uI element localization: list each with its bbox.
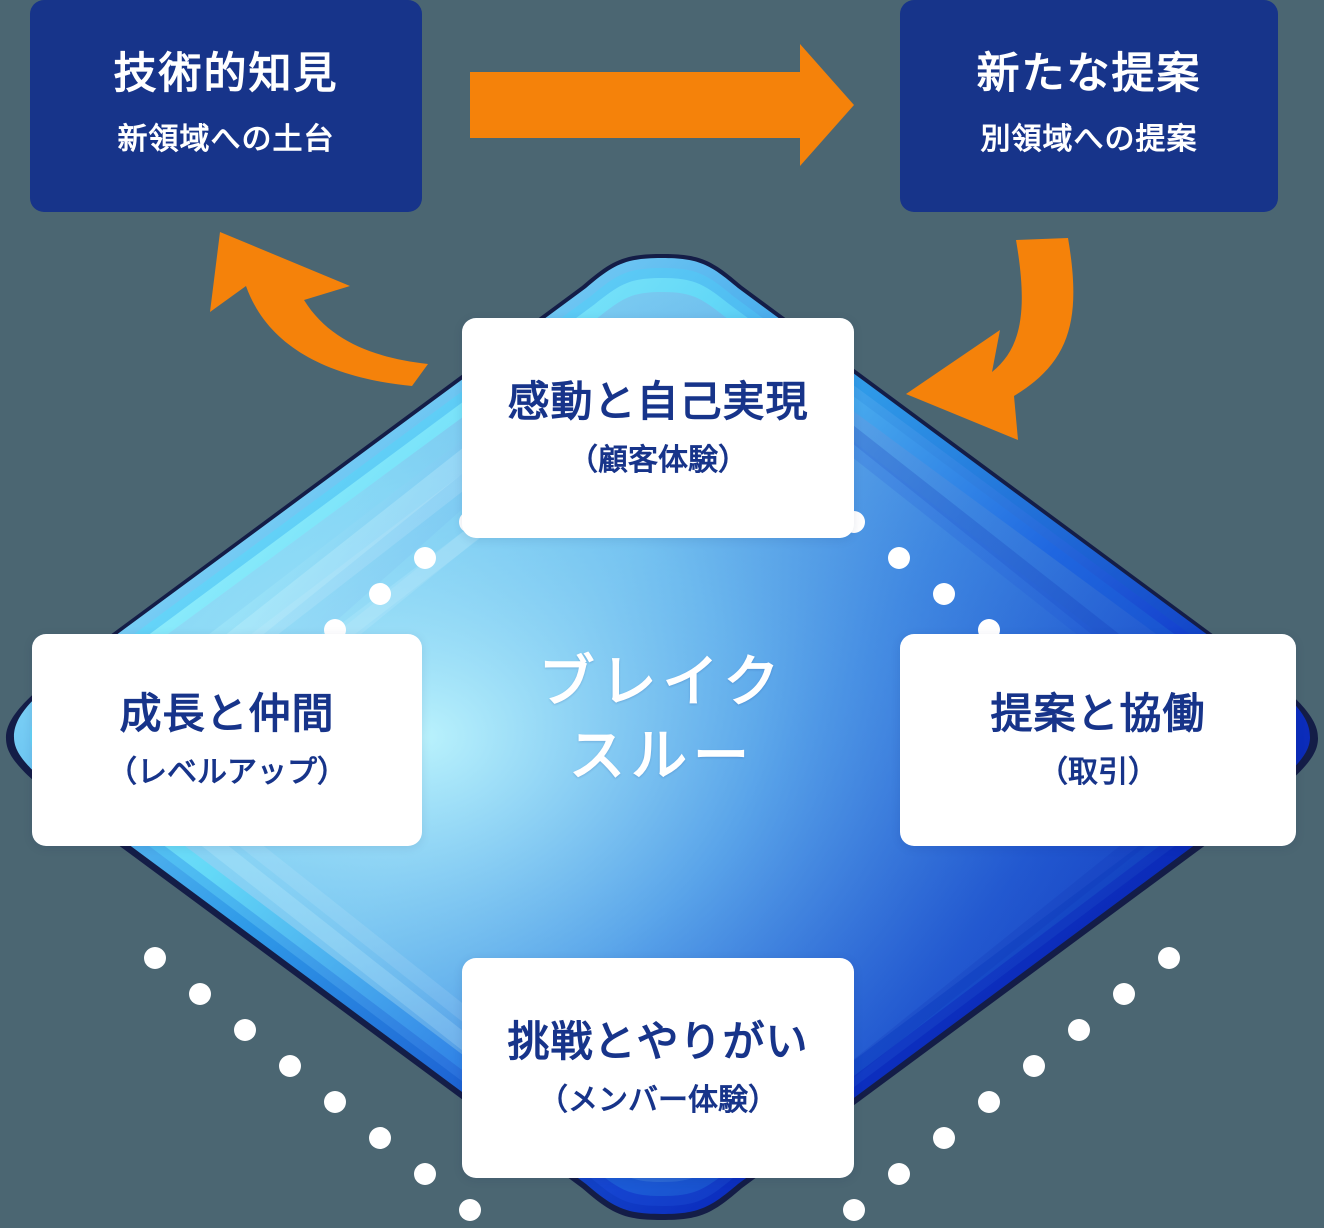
arrow-right-icon [470, 44, 854, 166]
box-subtitle: 新領域への土台 [118, 114, 335, 158]
box-title: 新たな提案 [977, 50, 1202, 99]
card-title: 挑戦とやりがい [507, 1019, 808, 1065]
card-subtitle: （メンバー体験） [538, 1084, 778, 1117]
card-customer-experience[interactable]: 感動と自己実現 （顧客体験） [462, 318, 854, 538]
card-proposal-and-collaboration[interactable]: 提案と協働 （取引） [900, 634, 1296, 846]
card-subtitle: （レベルアップ） [107, 756, 347, 789]
box-subtitle: 別領域への提案 [981, 114, 1198, 158]
card-title: 成長と仲間 [119, 691, 334, 737]
card-member-experience[interactable]: 挑戦とやりがい （メンバー体験） [462, 958, 854, 1178]
card-subtitle: （顧客体験） [568, 444, 748, 477]
card-title: 感動と自己実現 [507, 379, 808, 425]
card-title: 提案と協働 [990, 691, 1205, 737]
box-technical-knowledge[interactable]: 技術的知見 新領域への土台 [30, 0, 422, 212]
box-new-proposal[interactable]: 新たな提案 別領域への提案 [900, 0, 1278, 212]
box-title: 技術的知見 [114, 50, 339, 99]
card-subtitle: （取引） [1038, 756, 1158, 789]
diagram-canvas: ブレイク スルー 感動と自己実現 （顧客体験） 成長と仲間 （レベルアップ） 提… [0, 0, 1324, 1228]
card-growth-and-peers[interactable]: 成長と仲間 （レベルアップ） [32, 634, 422, 846]
